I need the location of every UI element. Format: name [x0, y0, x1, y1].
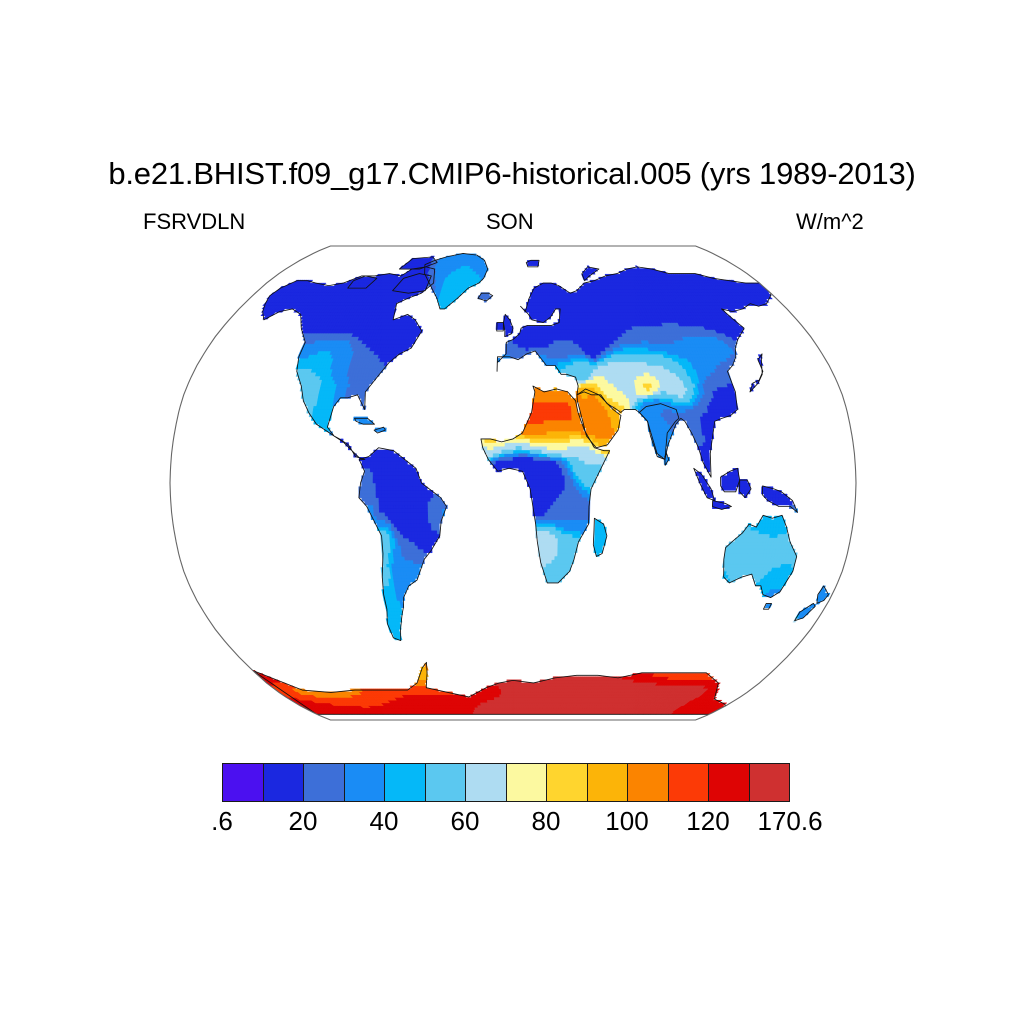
coastline-japan — [750, 354, 763, 392]
colorbar-tick-labels: .620406080100120170.6 — [0, 806, 1024, 840]
figure-title: b.e21.BHIST.f09_g17.CMIP6-historical.005… — [0, 156, 1024, 192]
colorbar-cell-0 — [223, 764, 264, 801]
colorbar-cell-2 — [304, 764, 345, 801]
data-cells-1B28E0 — [261, 256, 793, 553]
colorbar-cell-11 — [669, 764, 710, 801]
colorbar-cell-6 — [466, 764, 507, 801]
colorbar-cell-10 — [628, 764, 669, 801]
colorbar-tick-1: 20 — [289, 806, 318, 837]
colorbar-tick-5: 100 — [605, 806, 648, 837]
world-map — [118, 238, 908, 728]
colorbar-cell-9 — [588, 764, 629, 801]
variable-label: FSRVDLN — [143, 209, 245, 235]
climate-map-figure: b.e21.BHIST.f09_g17.CMIP6-historical.005… — [0, 0, 1024, 1024]
colorbar-tick-3: 60 — [451, 806, 480, 837]
colorbar-tick-2: 40 — [370, 806, 399, 837]
colorbar-cell-1 — [264, 764, 305, 801]
colorbar — [222, 763, 790, 802]
colorbar-cell-4 — [385, 764, 426, 801]
units-label: W/m^2 — [796, 209, 864, 235]
colorbar-cell-12 — [709, 764, 750, 801]
colorbar-cell-5 — [426, 764, 467, 801]
colorbar-cell-7 — [507, 764, 548, 801]
map-canvas — [118, 238, 908, 728]
season-label: SON — [486, 209, 534, 235]
colorbar-tick-0: .6 — [211, 806, 233, 837]
colorbar-cells — [222, 763, 790, 802]
colorbar-tick-7: 170.6 — [757, 806, 822, 837]
colorbar-tick-4: 80 — [532, 806, 561, 837]
colorbar-cell-8 — [547, 764, 588, 801]
map-boundary-outline — [170, 246, 856, 720]
colorbar-cell-13 — [750, 764, 790, 801]
colorbar-cell-3 — [345, 764, 386, 801]
colorbar-tick-6: 120 — [686, 806, 729, 837]
map-data-layer — [252, 254, 830, 715]
